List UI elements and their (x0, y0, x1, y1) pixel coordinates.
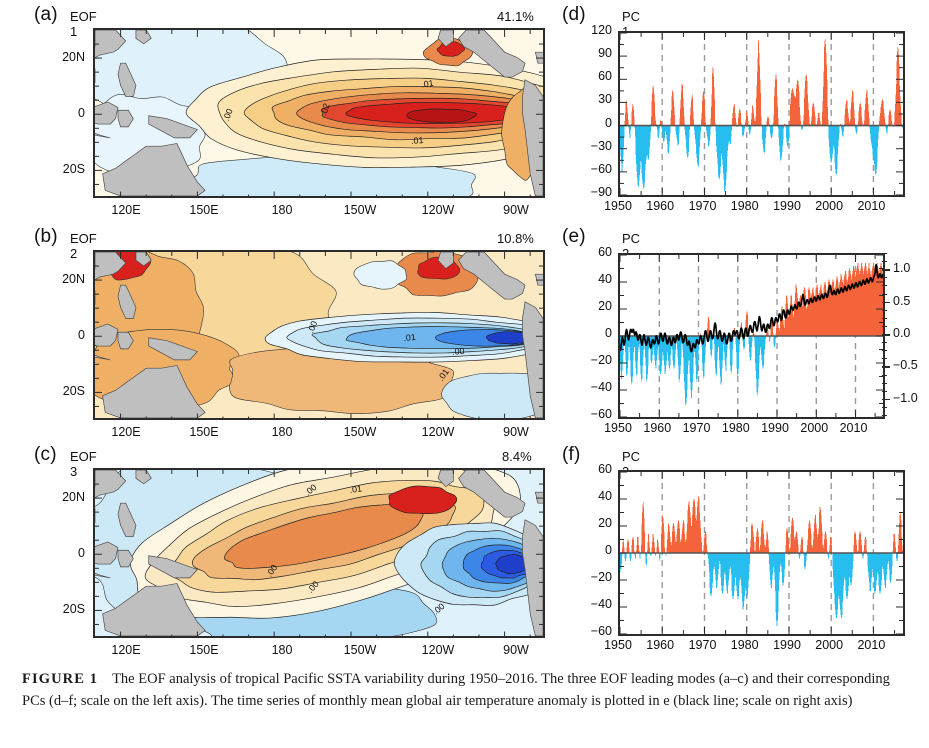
pc2-ytick-right-neg1: −1.0 (893, 391, 929, 405)
pc2-ytick-neg40: −40 (570, 380, 612, 394)
map-c-xtick-180: 180 (252, 643, 312, 657)
pc2-ytick-60: 60 (570, 245, 612, 259)
chart-plot-pc3 (618, 470, 905, 636)
pc3-ytick-0: 0 (570, 543, 612, 557)
pc3-ytick-neg20: −20 (570, 570, 612, 584)
panel-c-letter: (c) (34, 444, 57, 466)
pc2-ytick-right-0p5: 0.5 (893, 294, 929, 308)
pc2-ytick-right-neg0p5: −0.5 (893, 358, 929, 372)
map-plot-eof2: .00.01.00.01 (93, 250, 545, 420)
map-a-xtick-180: 180 (252, 203, 312, 217)
chart-plot-pc1 (618, 31, 905, 197)
map-a-ytick-20s: 20S (33, 162, 85, 176)
pc1-ytick-90: 90 (570, 46, 612, 60)
panel-b-letter: (b) (34, 226, 58, 248)
map-a-ytick-20n: 20N (33, 50, 85, 64)
map-plot-eof3: .00.01.00.00.00 (93, 468, 545, 638)
pc1-ytick-120: 120 (570, 23, 612, 37)
pc3-ytick-40: 40 (570, 489, 612, 503)
pc2-ytick-neg20: −20 (570, 353, 612, 367)
map-c-xtick-90w: 90W (486, 643, 546, 657)
pc2-ytick-right-0: 0.0 (893, 326, 929, 340)
pc2-xtick-2010: 2010 (828, 421, 880, 435)
map-b-ytick-0: 0 (33, 328, 85, 342)
map-b-ytick-20s: 20S (33, 384, 85, 398)
map-plot-eof1: .01.01.02.00 (93, 28, 545, 198)
map-a-ytick-0: 0 (33, 106, 85, 120)
map-c-xtick-120w: 120W (408, 643, 468, 657)
map-a-xtick-90w: 90W (486, 203, 546, 217)
pc2-ytick-40: 40 (570, 272, 612, 286)
map-a-xtick-120w: 120W (408, 203, 468, 217)
map-c-ytick-20s: 20S (33, 602, 85, 616)
pc2-ytick-20: 20 (570, 299, 612, 313)
panel-b-variance: 10.8% (497, 231, 534, 246)
pc1-ytick-neg90: −90 (570, 185, 612, 199)
chart-plot-pc2 (618, 253, 885, 419)
map-b-xtick-120w: 120W (408, 425, 468, 439)
map-b-ytick-20n: 20N (33, 272, 85, 286)
figure-caption-label: FIGURE 1 (22, 671, 98, 687)
pc3-ytick-neg40: −40 (570, 597, 612, 611)
pc3-ytick-neg60: −60 (570, 624, 612, 638)
map-b-xtick-120e: 120E (96, 425, 156, 439)
pc3-xtick-2010: 2010 (845, 638, 897, 652)
panel-a-letter: (a) (34, 4, 58, 26)
figure-caption: FIGURE 1The EOF analysis of tropical Pac… (22, 668, 912, 712)
map-c-xtick-150w: 150W (330, 643, 390, 657)
map-b-xtick-90w: 90W (486, 425, 546, 439)
panel-c-variance: 8.4% (502, 449, 532, 464)
pc1-ytick-60: 60 (570, 69, 612, 83)
pc2-ytick-right-1: 1.0 (893, 261, 929, 275)
pc1-ytick-30: 30 (570, 92, 612, 106)
pc3-ytick-60: 60 (570, 462, 612, 476)
map-b-xtick-180: 180 (252, 425, 312, 439)
pc1-ytick-0: 0 (570, 116, 612, 130)
map-b-xtick-150e: 150E (174, 425, 234, 439)
figure-1: (a) EOF 1 41.1% .01.01.02.00 20N 0 20S 1… (0, 0, 929, 748)
map-c-xtick-150e: 150E (174, 643, 234, 657)
pc3-ytick-20: 20 (570, 516, 612, 530)
map-a-xtick-150e: 150E (174, 203, 234, 217)
pc1-xtick-2010: 2010 (845, 199, 897, 213)
pc1-ytick-neg30: −30 (570, 139, 612, 153)
map-a-xtick-120e: 120E (96, 203, 156, 217)
panel-a-variance: 41.1% (497, 9, 534, 24)
pc1-ytick-neg60: −60 (570, 162, 612, 176)
map-c-ytick-0: 0 (33, 546, 85, 560)
pc2-ytick-0: 0 (570, 326, 612, 340)
map-c-ytick-20n: 20N (33, 490, 85, 504)
map-c-xtick-120e: 120E (96, 643, 156, 657)
pc2-ytick-neg60: −60 (570, 407, 612, 421)
map-a-xtick-150w: 150W (330, 203, 390, 217)
figure-caption-text: The EOF analysis of tropical Pacific SST… (22, 671, 890, 709)
map-b-xtick-150w: 150W (330, 425, 390, 439)
